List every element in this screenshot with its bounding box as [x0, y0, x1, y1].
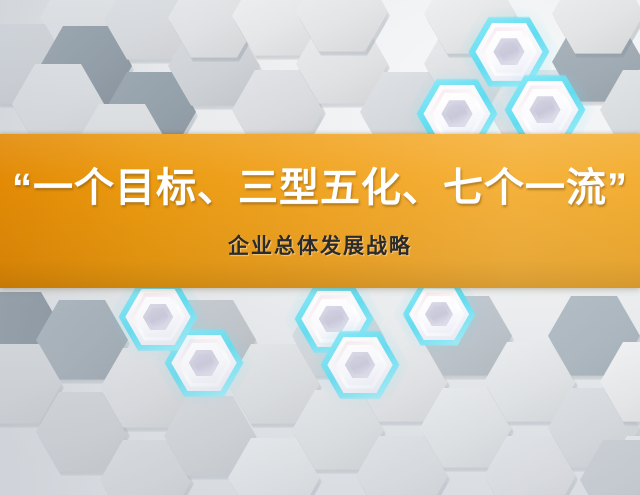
page-subtitle: 企业总体发展战略 — [0, 236, 640, 257]
presentation-slide: “一个目标、三型五化、七个一流” 企业总体发展战略 — [0, 0, 640, 495]
page-title: “一个目标、三型五化、七个一流” — [0, 168, 640, 208]
title-banner: “一个目标、三型五化、七个一流” 企业总体发展战略 — [0, 134, 640, 288]
